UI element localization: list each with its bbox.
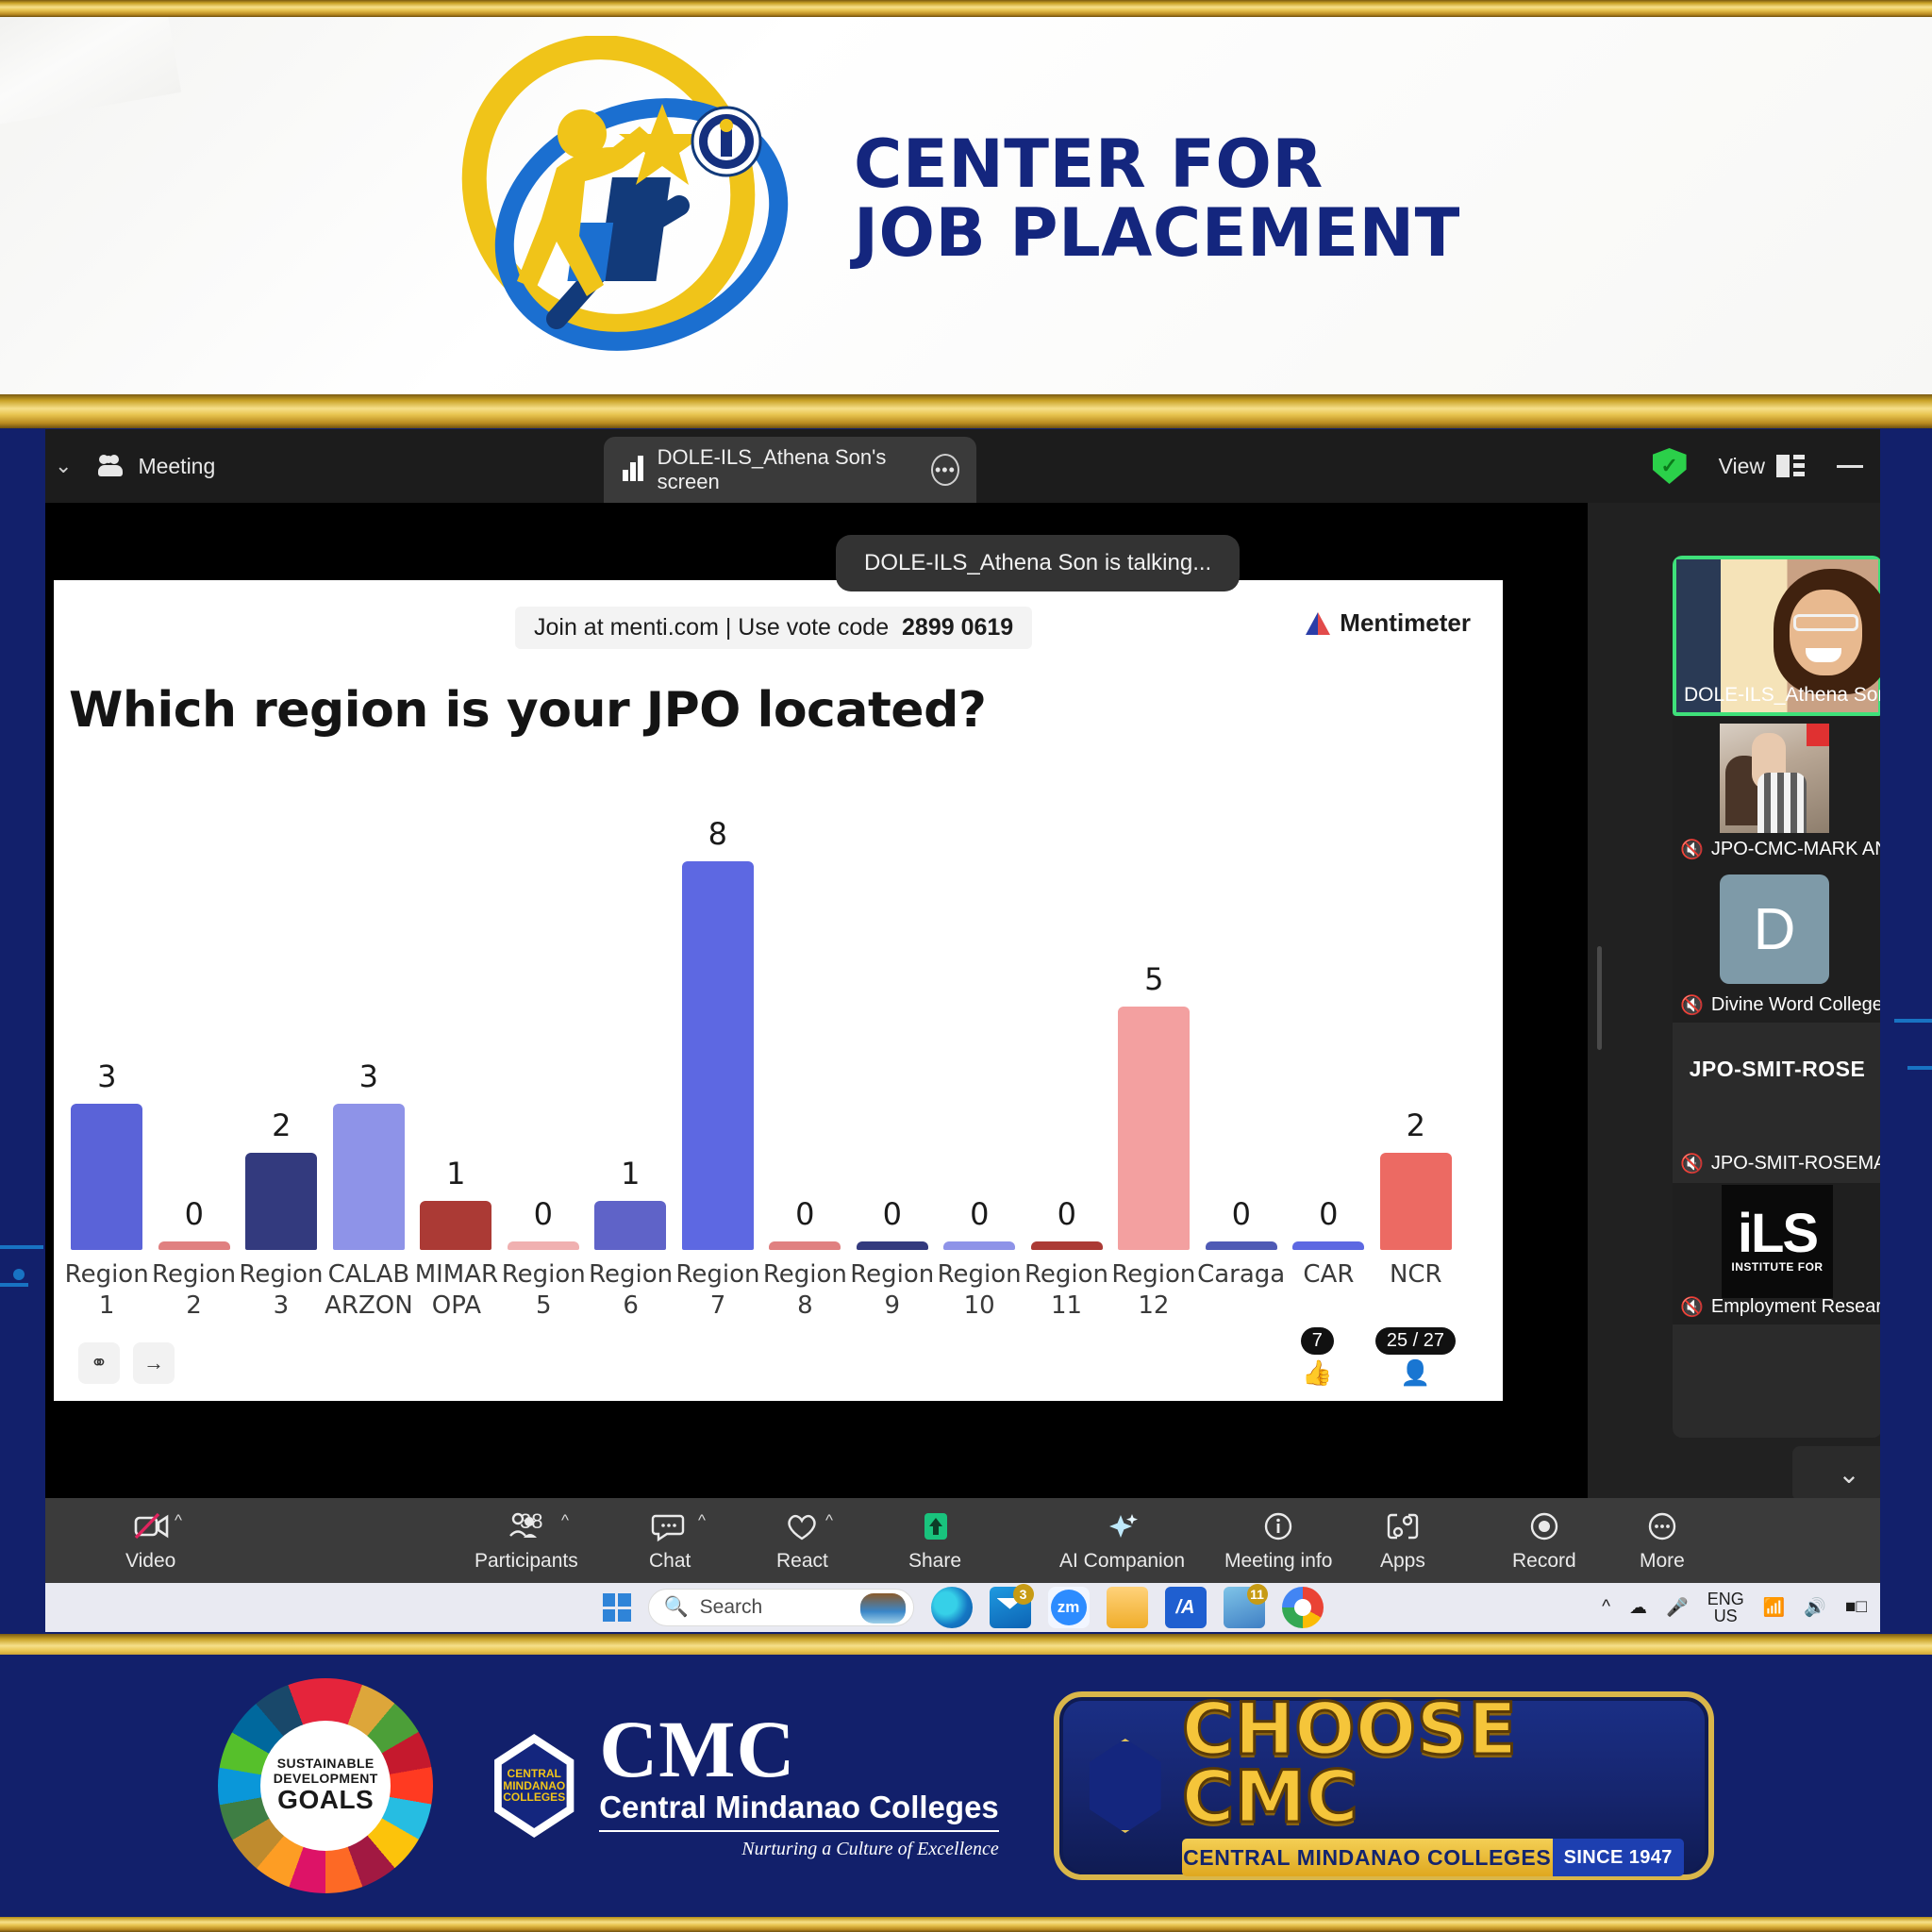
x-axis-label: Region5 (500, 1254, 587, 1335)
x-axis-label: Region12 (1110, 1254, 1197, 1335)
wifi-icon[interactable]: 📶 (1763, 1596, 1786, 1619)
bar[interactable] (71, 1104, 142, 1250)
windows-taskbar: 🔍 Search 3 zm /A 11 (45, 1583, 1880, 1632)
search-placeholder: Search (700, 1596, 763, 1619)
participant-name-2: 🔇 Divine Word College (1680, 993, 1880, 1017)
choose-cmc-seal-icon (1084, 1739, 1167, 1833)
participant-tile-3[interactable]: JPO-SMIT-ROSE 🔇 JPO-SMIT-ROSEMA (1673, 1023, 1880, 1183)
bar[interactable] (508, 1241, 579, 1250)
sdg-line-2: DEVELOPMENT (274, 1772, 378, 1786)
gallery-scroll-down-button[interactable]: ⌄ (1792, 1446, 1880, 1501)
bar-value-label: 8 (708, 816, 727, 852)
toolbar-participants-button[interactable]: 38^Participants (475, 1498, 578, 1583)
language-indicator[interactable]: ENG US (1707, 1591, 1744, 1625)
title-bar-right: ✓ View (1653, 429, 1863, 503)
panel-divider[interactable] (1591, 503, 1607, 1498)
x-axis-label: Caraga (1197, 1254, 1285, 1335)
teams-icon[interactable]: 11 (1224, 1587, 1265, 1628)
x-axis-label: Region10 (936, 1254, 1023, 1335)
participant-name-1-text: JPO-CMC-MARK AN (1711, 839, 1880, 860)
bar-value-label: 1 (446, 1156, 465, 1191)
windows-logo-icon[interactable] (603, 1593, 631, 1622)
menti-join-text: Join at menti.com | Use vote code (534, 614, 889, 641)
toolbar-item-label: Record (1512, 1550, 1576, 1573)
mentimeter-slide: Join at menti.com | Use vote code 2899 0… (54, 580, 1503, 1401)
bar[interactable] (245, 1153, 317, 1250)
bar-value-label: 0 (1319, 1196, 1338, 1232)
cmc-wordmark: CMC Central Mindanao Colleges Nurturing … (599, 1711, 999, 1861)
view-button[interactable]: View (1719, 454, 1805, 479)
sdg-line-1: SUSTAINABLE (274, 1757, 378, 1771)
zoom-control-bar: ^Video38^Participants^Chat^ReactShareAI … (45, 1498, 1880, 1583)
decor-line-left (0, 1245, 43, 1249)
system-tray: ^ ☁ 🎤 ENG US 📶 🔊 ■□ (1602, 1591, 1867, 1625)
cmc-logo-block: CENTRAL MINDANAO COLLEGES CMC Central Mi… (488, 1711, 999, 1861)
avatar-glasses-decor (1793, 614, 1857, 631)
participant-name-3-text: JPO-SMIT-ROSEMA (1711, 1153, 1880, 1174)
bar-value-label: 2 (1407, 1108, 1425, 1143)
toolbar-share-button[interactable]: Share (908, 1498, 961, 1583)
ils-logo: iLS INSTITUTE FOR (1722, 1185, 1833, 1298)
chrome-icon[interactable] (1282, 1587, 1324, 1628)
menti-join-bar: Join at menti.com | Use vote code 2899 0… (515, 607, 1032, 649)
participant-tile-2[interactable]: D 🔇 Divine Word College (1673, 867, 1880, 1023)
avatar-smile-decor (1806, 648, 1842, 662)
bar[interactable] (420, 1201, 491, 1250)
bar[interactable] (857, 1241, 928, 1250)
bar-column: 0 (1285, 807, 1373, 1250)
toolbar-meeting-info-button[interactable]: Meeting info (1224, 1498, 1332, 1583)
toolbar-item-label: Video (125, 1550, 175, 1573)
heart-icon (783, 1508, 821, 1544)
choose-cmc-badge: CHOOSE CMC CENTRAL MINDANAO COLLEGES SIN… (1054, 1691, 1714, 1880)
bar-column: 3 (63, 807, 151, 1250)
bar[interactable] (1380, 1153, 1452, 1250)
sdg-line-3: GOALS (274, 1786, 378, 1815)
chevron-up-icon[interactable]: ^ (561, 1511, 569, 1530)
x-axis-label: CALABARZON (325, 1254, 413, 1335)
language-line-1: ENG (1707, 1590, 1744, 1608)
toolbar-item-label: Apps (1380, 1550, 1425, 1573)
toolbar-apps-button[interactable]: Apps (1380, 1498, 1425, 1583)
share-screen-icon (621, 455, 642, 485)
cjp-logo (443, 36, 811, 375)
meeting-menu[interactable]: Meeting (96, 454, 215, 479)
title-line-2: JOB PLACEMENT (854, 199, 1460, 268)
mic-muted-icon: 🔇 (1680, 993, 1704, 1017)
toolbar-more-button[interactable]: More (1640, 1498, 1685, 1583)
mic-muted-icon: 🔇 (1680, 1295, 1704, 1319)
chevron-down-icon[interactable]: ⌄ (55, 454, 72, 478)
language-line-2: US (1714, 1607, 1738, 1625)
toolbar-item-label: More (1640, 1550, 1685, 1573)
toolbar-item-label: Chat (649, 1550, 691, 1573)
cmc-seal-icon: CENTRAL MINDANAO COLLEGES (488, 1734, 580, 1838)
chevron-up-icon[interactable]: ^ (1602, 1597, 1610, 1618)
x-axis-label: Region2 (150, 1254, 237, 1335)
bar-value-label: 0 (883, 1196, 902, 1232)
ils-logo-secondary: INSTITUTE FOR (1731, 1260, 1823, 1274)
mentimeter-brand-label: Mentimeter (1340, 608, 1471, 638)
bar-column: 0 (1024, 807, 1111, 1250)
participant-name-3: 🔇 JPO-SMIT-ROSEMA (1680, 1152, 1880, 1175)
choose-cmc-title: CHOOSE CMC (1182, 1695, 1684, 1831)
x-axis-label: Region7 (675, 1254, 761, 1335)
microphone-icon[interactable]: 🎤 (1666, 1596, 1689, 1619)
shared-screen-area: DOLE-ILS_Athena Son is talking... Join a… (45, 503, 1588, 1498)
bar-value-label: 0 (534, 1196, 553, 1232)
x-axis-label: Region1 (63, 1254, 150, 1335)
mentimeter-brand: Mentimeter (1306, 608, 1471, 638)
bar[interactable] (594, 1201, 666, 1250)
bar[interactable] (1206, 1241, 1277, 1250)
participant-name-4: 🔇 Employment Resear (1680, 1295, 1880, 1319)
zoom-icon[interactable]: zm (1048, 1587, 1090, 1628)
toolbar-item-label: AI Companion (1059, 1550, 1185, 1573)
bar-value-label: 0 (185, 1196, 204, 1232)
meeting-stage: DOLE-ILS_Athena Son is talking... Join a… (45, 503, 1880, 1498)
zoom-title-bar: ⌄ Meeting DOLE-ILS_Athena Son's screen •… (45, 429, 1880, 503)
bar-column: 3 (325, 807, 413, 1250)
poster-footer: SUSTAINABLE DEVELOPMENT GOALS CENTRAL MI… (0, 1655, 1932, 1917)
bar-column: 1 (412, 807, 500, 1250)
decor-dot-left (13, 1269, 25, 1280)
x-axis-label: MIMAROPA (413, 1254, 500, 1335)
bar-value-label: 1 (621, 1156, 640, 1191)
edge-icon[interactable] (931, 1587, 973, 1628)
chat-icon (651, 1508, 689, 1544)
cmc-abbr: CMC (599, 1711, 999, 1789)
more-dots-icon (1643, 1508, 1681, 1544)
participants-stat: 25 / 27 👤 (1375, 1327, 1456, 1388)
sparkle-icon (1104, 1508, 1141, 1544)
poll-question: Which region is your JPO located? (69, 682, 986, 739)
bar[interactable] (1031, 1241, 1103, 1250)
bar-value-label: 3 (97, 1058, 116, 1094)
search-input[interactable]: 🔍 Search (648, 1589, 914, 1626)
mail-badge: 3 (1013, 1584, 1034, 1605)
x-axis-label: Region3 (238, 1254, 325, 1335)
active-speaker-banner: DOLE-ILS_Athena Son is talking... (836, 535, 1240, 591)
bar-column: 0 (500, 807, 588, 1250)
bar-column: 0 (761, 807, 849, 1250)
lightbulb-icon[interactable]: ⚭ (78, 1342, 120, 1384)
shared-screen-tab[interactable]: DOLE-ILS_Athena Son's screen ••• (604, 437, 976, 503)
participants-count-badge: 38 (520, 1509, 542, 1534)
person-icon: 👤 (1400, 1358, 1430, 1388)
bar-column: 2 (238, 807, 325, 1250)
view-button-label: View (1719, 454, 1765, 479)
bar[interactable] (943, 1241, 1015, 1250)
mail-icon[interactable]: 3 (990, 1587, 1031, 1628)
bar[interactable] (682, 861, 754, 1250)
participant-tile-1[interactable]: 🔇 JPO-CMC-MARK AN (1673, 716, 1880, 867)
top-gold-band (0, 0, 1932, 17)
participant-name-4-text: Employment Resear (1711, 1296, 1880, 1318)
toolbar-item-label: React (776, 1550, 828, 1573)
info-icon (1259, 1508, 1297, 1544)
cmc-tagline: Nurturing a Culture of Excellence (599, 1839, 999, 1860)
bar-value-label: 0 (1232, 1196, 1251, 1232)
chart-plot-area: 3023101800005002 (63, 807, 1459, 1250)
x-axis-label: Region9 (849, 1254, 936, 1335)
participant-tile-4[interactable]: iLS INSTITUTE FOR 🔇 Employment Resear (1673, 1183, 1880, 1324)
toolbar-item-label: Share (908, 1550, 961, 1573)
bar-column: 0 (849, 807, 937, 1250)
video-off-icon (132, 1508, 170, 1544)
toolbar-item-label: Meeting info (1224, 1550, 1332, 1573)
poster-canvas: CENTER FOR JOB PLACEMENT ⌄ Meeting (0, 0, 1932, 1932)
share-screen-icon (916, 1508, 954, 1544)
mid-gold-band (0, 394, 1932, 428)
decor-line-left-2 (0, 1283, 28, 1287)
zoom-app-window: ⌄ Meeting DOLE-ILS_Athena Son's screen •… (45, 429, 1880, 1632)
search-icon: 🔍 (664, 1596, 689, 1619)
chevron-up-icon[interactable]: ^ (698, 1511, 706, 1530)
decor-line-right (1894, 1019, 1932, 1023)
bar-column: 1 (587, 807, 675, 1250)
title-line-1: CENTER FOR (854, 125, 1324, 203)
bar-column: 0 (151, 807, 239, 1250)
choose-cmc-since: SINCE 1947 (1553, 1839, 1684, 1876)
chart-x-axis-labels: Region1Region2Region3CALABARZONMIMAROPAR… (63, 1254, 1459, 1335)
bar[interactable] (333, 1104, 405, 1250)
teams-badge: 11 (1247, 1584, 1268, 1605)
bar[interactable] (158, 1241, 230, 1250)
poll-bar-chart: 3023101800005002 Region1Region2Region3CA… (63, 807, 1459, 1335)
slide-stats: 7 👍 25 / 27 👤 (1301, 1327, 1456, 1388)
participant-name-2-text: Divine Word College (1711, 994, 1880, 1016)
ils-logo-primary: iLS (1738, 1209, 1817, 1258)
toolbar-video-button[interactable]: ^Video (125, 1498, 175, 1583)
menti-vote-code: 2899 0619 (902, 614, 1013, 641)
sdg-wheel-logo: SUSTAINABLE DEVELOPMENT GOALS (218, 1678, 433, 1893)
bar-column: 0 (936, 807, 1024, 1250)
taskbar-center: 🔍 Search 3 zm /A 11 (603, 1587, 1324, 1628)
bar-column: 5 (1110, 807, 1198, 1250)
mentimeter-logo-icon (1306, 612, 1330, 635)
x-axis-label: Region11 (1023, 1254, 1109, 1335)
decor-line-right-2 (1907, 1066, 1932, 1070)
avatar: D (1720, 874, 1829, 984)
record-icon (1525, 1508, 1563, 1544)
onedrive-icon[interactable]: ☁ (1629, 1597, 1647, 1619)
bar-column: 0 (1198, 807, 1286, 1250)
toolbar-react-button[interactable]: ^React (776, 1498, 828, 1583)
participants-count: 25 / 27 (1375, 1327, 1456, 1355)
bar-column: 8 (675, 807, 762, 1250)
bar-value-label: 5 (1144, 961, 1163, 997)
bar-value-label: 0 (795, 1196, 814, 1232)
thumbs-up-icon: 👍 (1302, 1358, 1332, 1388)
bar[interactable] (1118, 1007, 1190, 1250)
bar-column: 2 (1373, 807, 1460, 1250)
bar-value-label: 0 (970, 1196, 989, 1232)
bar-value-label: 2 (272, 1108, 291, 1143)
zoom-window-body: ⌄ Meeting DOLE-ILS_Athena Son's screen •… (45, 429, 1880, 1632)
people-icon (96, 455, 125, 477)
participant-name-1: 🔇 JPO-CMC-MARK AN (1680, 838, 1880, 861)
cmc-seal-inner: CENTRAL MINDANAO COLLEGES (496, 1743, 572, 1828)
bar-value-label: 0 (1058, 1196, 1076, 1232)
participant-tile-0[interactable]: DOLE-ILS_Athena Son (1673, 556, 1880, 716)
reactions-stat: 7 👍 (1301, 1327, 1334, 1388)
choose-cmc-subtitle: CENTRAL MINDANAO COLLEGES (1182, 1839, 1553, 1876)
sdg-wheel-text: SUSTAINABLE DEVELOPMENT GOALS (274, 1757, 378, 1815)
x-axis-label: NCR (1373, 1254, 1459, 1335)
arrow-right-icon[interactable]: → (133, 1342, 175, 1384)
chevron-up-icon[interactable]: ^ (825, 1511, 833, 1530)
header-fold-decor (0, 17, 181, 128)
shared-screen-tab-label: DOLE-ILS_Athena Son's screen (658, 445, 916, 494)
mic-muted-icon: 🔇 (1680, 1152, 1704, 1175)
layout-icon (1776, 455, 1805, 477)
x-axis-label: CAR (1285, 1254, 1372, 1335)
more-dots-icon[interactable]: ••• (931, 454, 959, 486)
x-axis-label: Region6 (587, 1254, 674, 1335)
page-title: CENTER FOR JOB PLACEMENT (854, 130, 1460, 268)
bottom-gold-band (0, 1915, 1932, 1932)
participant-photo (1720, 724, 1829, 833)
avatar-face-decor (1790, 590, 1862, 675)
minimize-button[interactable] (1837, 465, 1863, 468)
bar[interactable] (1292, 1241, 1364, 1250)
mic-muted-icon: 🔇 (1680, 838, 1704, 861)
battery-icon[interactable]: ■□ (1845, 1597, 1867, 1618)
participant-name-0: DOLE-ILS_Athena Son (1684, 684, 1880, 707)
participant-gallery: DOLE-ILS_Athena Son 🔇 JPO-CMC-MARK AN D (1673, 556, 1880, 1438)
x-axis-label: Region8 (761, 1254, 848, 1335)
shield-check-icon[interactable]: ✓ (1653, 448, 1687, 484)
meeting-menu-label: Meeting (138, 454, 215, 479)
chevron-up-icon[interactable]: ^ (175, 1511, 182, 1530)
file-explorer-icon[interactable] (1107, 1587, 1148, 1628)
toolbar-item-label: Participants (475, 1550, 578, 1573)
speaker-icon[interactable]: 🔊 (1804, 1596, 1826, 1619)
cmc-name: Central Mindanao Colleges (599, 1790, 999, 1832)
title-bar-left: ⌄ Meeting (45, 454, 215, 479)
apps-icon (1384, 1508, 1422, 1544)
choose-cmc-strip: CENTRAL MINDANAO COLLEGES SINCE 1947 (1182, 1839, 1684, 1876)
choose-cmc-words: CHOOSE CMC CENTRAL MINDANAO COLLEGES SIN… (1182, 1695, 1684, 1876)
toolbar-ai-companion-button[interactable]: AI Companion (1059, 1498, 1185, 1583)
toolbar-record-button[interactable]: Record (1512, 1498, 1576, 1583)
toolbar-chat-button[interactable]: ^Chat (649, 1498, 691, 1583)
participant-display-name: JPO-SMIT-ROSE (1673, 1057, 1880, 1082)
reactions-count: 7 (1301, 1327, 1334, 1355)
bar[interactable] (769, 1241, 841, 1250)
antivirus-icon[interactable]: /A (1165, 1587, 1207, 1628)
poster-header: CENTER FOR JOB PLACEMENT (0, 17, 1932, 394)
weather-widget-icon[interactable] (860, 1593, 906, 1624)
bar-value-label: 3 (359, 1058, 378, 1094)
